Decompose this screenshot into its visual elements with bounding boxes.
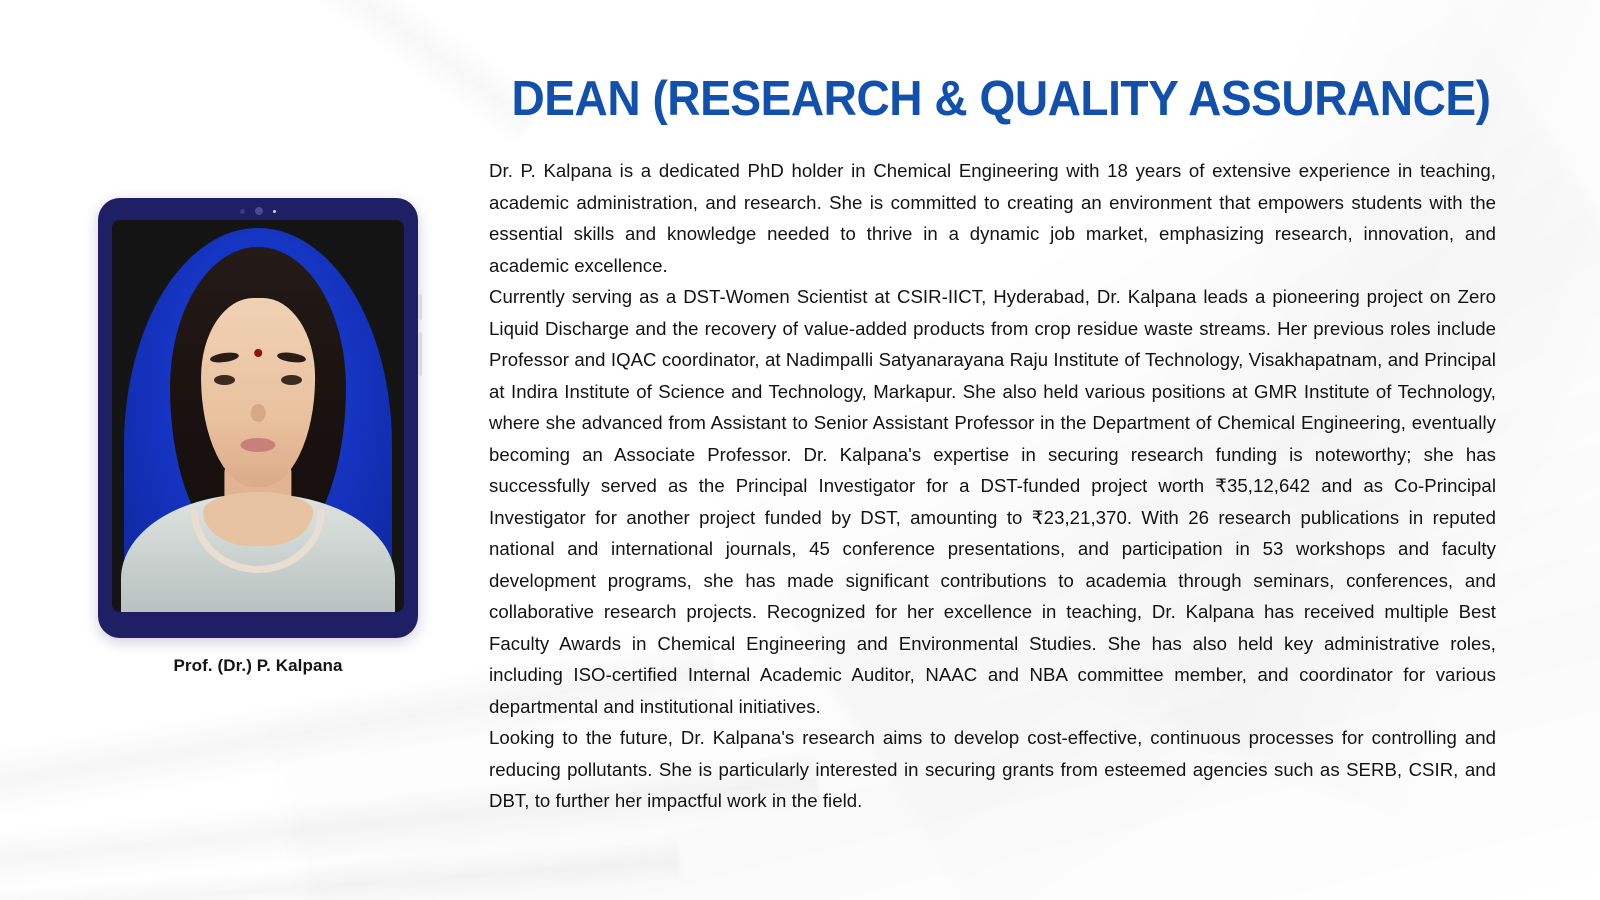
portrait-eye-right xyxy=(281,375,302,385)
background-swoosh-bottom-3 xyxy=(0,840,681,900)
slide-root: DEAN (RESEARCH & QUALITY ASSURANCE) xyxy=(0,0,1600,900)
profile-photo-block: Prof. (Dr.) P. Kalpana xyxy=(98,198,418,676)
page-title: DEAN (RESEARCH & QUALITY ASSURANCE) xyxy=(502,75,1500,124)
portrait-bindi xyxy=(254,349,262,356)
portrait-eye-left xyxy=(214,375,235,385)
photo-frame xyxy=(98,198,418,638)
camera-dots xyxy=(98,205,418,217)
volume-button xyxy=(418,294,422,320)
power-button xyxy=(418,332,422,376)
biography-text: Dr. P. Kalpana is a dedicated PhD holder… xyxy=(489,155,1496,817)
avatar xyxy=(112,220,404,612)
indicator-dot-icon xyxy=(273,210,276,213)
sensor-dot-icon xyxy=(240,209,245,214)
background-swoosh-top xyxy=(92,0,548,147)
portrait-nose xyxy=(251,404,266,422)
biography-paragraph-2: Currently serving as a DST-Women Scienti… xyxy=(489,281,1496,722)
profile-caption: Prof. (Dr.) P. Kalpana xyxy=(98,656,418,676)
biography-paragraph-3: Looking to the future, Dr. Kalpana's res… xyxy=(489,722,1496,817)
camera-lens-icon xyxy=(255,207,263,215)
portrait-lips xyxy=(240,438,275,452)
biography-paragraph-1: Dr. P. Kalpana is a dedicated PhD holder… xyxy=(489,155,1496,281)
photo-screen xyxy=(112,220,404,612)
